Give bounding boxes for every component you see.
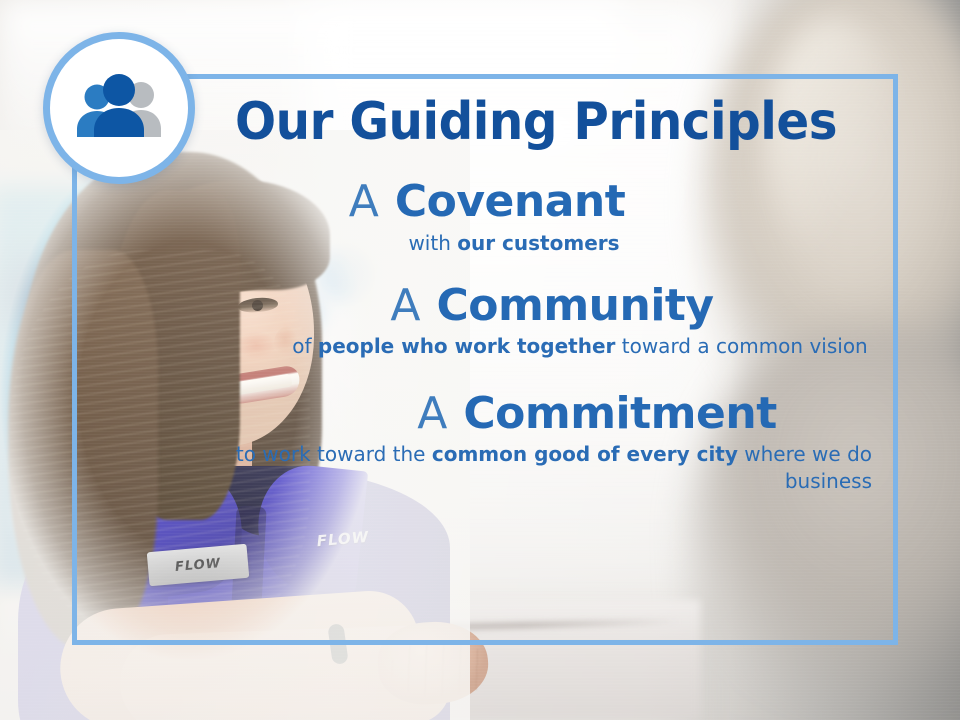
principle-commitment-title: A Commitment <box>180 390 880 438</box>
principle-community-subtitle: of people who work together toward a com… <box>180 333 880 359</box>
subtitle-part-regular: of <box>292 334 318 358</box>
principle-covenant-subtitle: with our customers <box>180 230 880 256</box>
promo-graphic: FLOW FLOW Our Gui <box>0 0 960 720</box>
principle-keyword: Community <box>436 280 713 331</box>
principle-commitment-subtitle: to work toward the common good of every … <box>180 441 880 494</box>
subtitle-part-regular: where we do business <box>738 442 872 492</box>
principles-list: A Covenant with our customers A Communit… <box>180 178 880 502</box>
principle-covenant-title: A Covenant <box>180 178 880 226</box>
shirt-logo-text: FLOW <box>316 528 370 551</box>
name-badge-text: FLOW <box>174 556 221 575</box>
principle-keyword: Covenant <box>395 176 625 227</box>
principle-lead: A <box>349 176 395 227</box>
principle-lead: A <box>417 388 463 439</box>
subtitle-part-regular: toward a common vision <box>615 334 867 358</box>
page-title: Our Guiding Principles <box>229 96 843 148</box>
principle-lead: A <box>390 280 436 331</box>
subtitle-part-regular: to work toward the <box>236 442 432 466</box>
fingers <box>392 642 488 696</box>
principle-covenant: A Covenant with our customers <box>180 178 880 256</box>
subtitle-part-regular: with <box>408 231 457 255</box>
principle-keyword: Commitment <box>463 388 776 439</box>
subtitle-part-bold: common good of every city <box>432 442 738 466</box>
principle-community: A Community of people who work together … <box>180 282 880 360</box>
principle-commitment: A Commitment to work toward the common g… <box>180 390 880 494</box>
subtitle-part-bold: people who work together <box>318 334 616 358</box>
principle-community-title: A Community <box>180 282 880 330</box>
people-group-badge <box>43 32 195 184</box>
people-group-icon <box>71 73 167 143</box>
subtitle-part-bold: our customers <box>457 231 619 255</box>
